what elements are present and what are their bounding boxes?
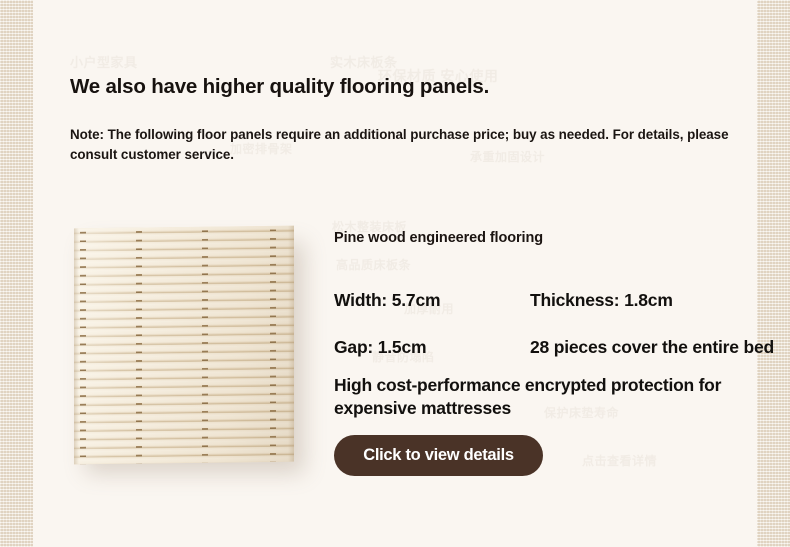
webbing-strap — [80, 228, 86, 464]
product-title: Pine wood engineered flooring — [334, 230, 543, 246]
right-texture-strip — [757, 0, 790, 547]
left-texture-strip — [0, 0, 33, 547]
panel-edge-right — [288, 226, 294, 462]
webbing-strap — [202, 227, 208, 463]
spec-piece-count: 28 pieces cover the entire bed — [530, 337, 774, 358]
watermark-text: 点击查看详情 — [582, 452, 657, 469]
product-tagline: High cost-performance encrypted protecti… — [334, 374, 778, 420]
wood-slats — [74, 226, 294, 465]
product-image-slatted-panel — [62, 215, 302, 473]
spec-thickness: Thickness: 1.8cm — [530, 290, 673, 311]
page-title: We also have higher quality flooring pan… — [70, 76, 489, 99]
spec-gap: Gap: 1.5cm — [334, 337, 426, 358]
promo-page: 小户型家具 实木床板条 环保材质 安心使用 加密排骨架 承重加固设计 松木整装床… — [0, 0, 790, 547]
watermark-text: 实木床板条 — [330, 52, 398, 71]
purchase-note: Note: The following floor panels require… — [70, 125, 774, 165]
panel-body — [74, 226, 294, 465]
webbing-strap — [270, 226, 276, 462]
panel-edge-left — [74, 228, 79, 464]
watermark-text: 小户型家具 — [70, 52, 138, 71]
view-details-button[interactable]: Click to view details — [334, 435, 543, 476]
spec-width: Width: 5.7cm — [334, 290, 440, 311]
webbing-strap — [136, 228, 142, 464]
watermark-text: 高品质床板条 — [336, 256, 411, 273]
